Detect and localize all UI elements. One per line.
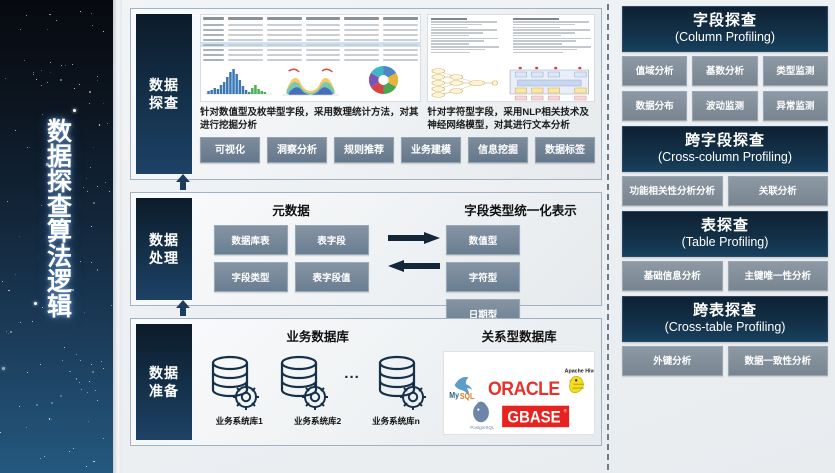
chip-table-column[interactable]: 表字段 [295,225,369,255]
button-data-distribution[interactable]: 数据分布 [622,91,687,121]
dependency-graph-thumbnail [428,65,505,101]
stage-body-processing: 元数据 数据库表 表字段 字段类型 表字段值 字段类型统一化表示 [192,193,601,305]
relational-database-group: 关系型数据库 My SQL OR [435,324,595,440]
category-header-column-profiling: 字段探查 (Column Profiling) [622,6,828,52]
button-association-analysis[interactable]: 关联分析 [728,176,829,206]
svg-text:ORACLE: ORACLE [488,377,560,399]
button-functional-correlation-analysis[interactable]: 功能相关性分析分析 [622,176,723,206]
db-label-n: 业务系统库n [363,415,429,427]
description-text: 针对字符型字段，采用NLP相关技术及神经网络模型，对其进行文本分析 [427,106,595,134]
profiling-panel: 字段探查 (Column Profiling) 值域分析 基数分析 类型监测 数… [622,6,828,467]
bidirectional-arrows [382,198,446,288]
nlp-thumbnail [427,14,595,102]
svg-text:SQL: SQL [460,392,475,401]
cross-column-profiling-buttons: 功能相关性分析分析 关联分析 [622,176,828,206]
button-business-modeling[interactable]: 业务建模 [401,137,461,163]
bar-chart-thumbnail [201,64,274,98]
category-title-en: (Cross-column Profiling) [625,150,825,165]
stage-label-text: 数据 探查 [149,76,179,112]
database-label-row: 业务系统库1 业务系统库2 业务系统库n [200,415,435,427]
arrow-left-icon [388,260,440,272]
business-db-title: 业务数据库 [200,326,435,345]
stage-label-exploration: 数据 探查 [136,14,192,174]
vendor-logo-collage: My SQL ORACLE ® Apache Hive [443,351,595,435]
stage-panel-processing: 数据 处理 元数据 数据库表 表字段 字段类型 表字段值 [130,192,602,306]
relational-db-title: 关系型数据库 [443,326,595,345]
button-cardinality-analysis[interactable]: 基数分析 [692,56,757,86]
banner-seam [113,0,122,473]
bert-model-thumbnail [505,65,594,101]
db-label-1: 业务系统库1 [206,415,272,427]
description-row: 针对数值型及枚举型字段，采用数理统计方法，对其进行挖掘分析 针对字符型字段，采用… [200,102,595,134]
thumbnail-strip [200,14,595,102]
page-title: 数据探查算法逻辑 [42,98,72,338]
section-divider [607,4,609,470]
category-title-en: (Cross-table Profiling) [625,320,825,335]
metadata-chip-grid: 数据库表 表字段 字段类型 表字段值 [200,225,382,292]
exploration-button-row: 可视化 洞察分析 规则推荐 业务建模 信息挖掘 数据标签 [200,137,595,163]
stage-label-text: 数据 准备 [149,364,179,400]
ellipsis-label: ... [344,365,360,400]
pie-chart-thumbnail [347,64,420,98]
svg-text:PostgreSQL: PostgreSQL [471,425,495,430]
button-insight-analysis[interactable]: 洞察分析 [267,137,327,163]
metadata-group: 元数据 数据库表 表字段 字段类型 表字段值 [200,198,382,292]
stage-panel-exploration: 数据 探查 [130,8,602,180]
stats-table-thumbnail [200,14,421,102]
category-title-en: (Column Profiling) [625,30,825,45]
profiling-group-cross-column: 跨字段探查 (Cross-column Profiling) 功能相关性分析分析… [622,126,828,206]
category-header-cross-table-profiling: 跨表探查 (Cross-table Profiling) [622,296,828,342]
types-title: 字段类型统一化表示 [446,200,595,219]
chip-column-type[interactable]: 字段类型 [214,262,288,292]
db-label-2: 业务系统库2 [285,415,351,427]
database-icon-row: ... [200,351,435,413]
stage-body-exploration: 针对数值型及枚举型字段，采用数理统计方法，对其进行挖掘分析 针对字符型字段，采用… [192,9,601,179]
profiling-group-column: 字段探查 (Column Profiling) 值域分析 基数分析 类型监测 数… [622,6,828,121]
arrow-up-icon [176,300,190,316]
category-title-cn: 字段探查 [625,12,825,30]
left-banner: 数据探查算法逻辑 [0,0,113,473]
description-numeric: 针对数值型及枚举型字段，采用数理统计方法，对其进行挖掘分析 [200,106,421,134]
cross-table-profiling-buttons: 外键分析 数据一致性分析 [622,346,828,376]
button-foreign-key-analysis[interactable]: 外键分析 [622,346,723,376]
metadata-title: 元数据 [200,200,382,219]
button-type-monitoring[interactable]: 类型监测 [763,56,828,86]
profiling-group-cross-table: 跨表探查 (Cross-table Profiling) 外键分析 数据一致性分… [622,296,828,376]
button-rule-recommendation[interactable]: 规则推荐 [334,137,394,163]
button-anomaly-monitoring[interactable]: 异常监测 [763,91,828,121]
button-data-consistency-analysis[interactable]: 数据一致性分析 [728,346,829,376]
gbase-logo: GBASE ® [502,406,569,427]
category-header-cross-column-profiling: 跨字段探查 (Cross-column Profiling) [622,126,828,172]
database-icon [373,351,429,413]
table-profiling-buttons: 基础信息分析 主键唯一性分析 [622,261,828,291]
arrow-up-icon [176,174,190,190]
svg-text:Apache Hive: Apache Hive [565,368,594,374]
stage-label-preparation: 数据 准备 [136,324,192,440]
arrow-right-icon [388,232,440,244]
category-title-cn: 表探查 [625,217,825,235]
profiling-group-table: 表探查 (Table Profiling) 基础信息分析 主键唯一性分析 [622,211,828,291]
button-fluctuation-monitoring[interactable]: 波动监测 [692,91,757,121]
button-visualization[interactable]: 可视化 [200,137,260,163]
slide-canvas: 数据探查算法逻辑 数据 探查 [0,0,835,473]
button-data-labeling[interactable]: 数据标签 [535,137,595,163]
column-profiling-buttons: 值域分析 基数分析 类型监测 数据分布 波动监测 异常监测 [622,56,828,121]
button-value-range-analysis[interactable]: 值域分析 [622,56,687,86]
describe-table-image [201,15,420,62]
category-title-en: (Table Profiling) [625,235,825,250]
chip-column-value[interactable]: 表字段值 [295,262,369,292]
stage-label-processing: 数据 处理 [136,198,192,300]
chip-string-type[interactable]: 字符型 [446,262,520,292]
chip-numeric-type[interactable]: 数值型 [446,225,520,255]
button-basic-info-analysis[interactable]: 基础信息分析 [622,261,723,291]
database-icon [206,351,262,413]
button-information-mining[interactable]: 信息挖掘 [468,137,528,163]
chip-database-table[interactable]: 数据库表 [214,225,288,255]
business-database-group: 业务数据库 [200,324,435,440]
svg-text:My: My [450,391,461,400]
flow-diagram: 数据 探查 [130,8,602,465]
svg-text:GBASE: GBASE [508,409,561,427]
stage-label-text: 数据 处理 [149,231,179,267]
chart-thumbnails [201,64,420,98]
surface-3d-chart-thumbnail [274,64,347,98]
stage-body-preparation: 业务数据库 [192,319,601,445]
database-icon [275,351,331,413]
category-title-cn: 跨字段探查 [625,132,825,150]
button-primary-key-uniqueness-analysis[interactable]: 主键唯一性分析 [728,261,829,291]
category-header-table-profiling: 表探查 (Table Profiling) [622,211,828,257]
category-title-cn: 跨表探查 [625,302,825,320]
text-corpus-table-thumbnail [428,15,594,65]
svg-text:®: ® [564,407,568,413]
stage-panel-preparation: 数据 准备 业务数据库 [130,318,602,446]
